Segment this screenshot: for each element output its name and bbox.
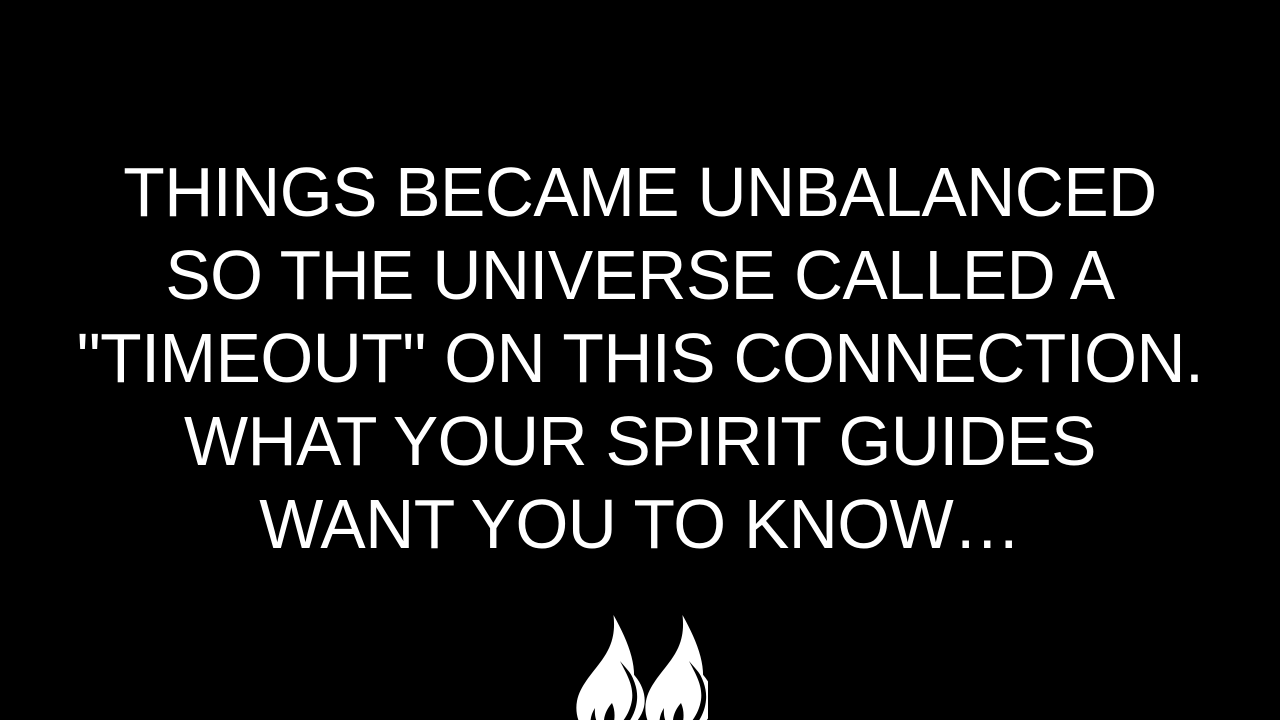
caption-line-5: WANT YOU TO KNOW… [19, 483, 1261, 566]
caption-line-3: "TIMEOUT" ON THIS CONNECTION. [19, 317, 1261, 400]
fire-icon-right [645, 615, 708, 720]
video-caption-slide: THINGS BECAME UNBALANCED SO THE UNIVERSE… [0, 0, 1280, 720]
fire-icon-left [576, 615, 644, 720]
caption-text-block: THINGS BECAME UNBALANCED SO THE UNIVERSE… [0, 0, 1280, 566]
double-fire-icon [572, 613, 708, 720]
caption-line-4: WHAT YOUR SPIRIT GUIDES [19, 400, 1261, 483]
caption-line-1: THINGS BECAME UNBALANCED [19, 151, 1261, 234]
caption-line-2: SO THE UNIVERSE CALLED A [19, 234, 1261, 317]
